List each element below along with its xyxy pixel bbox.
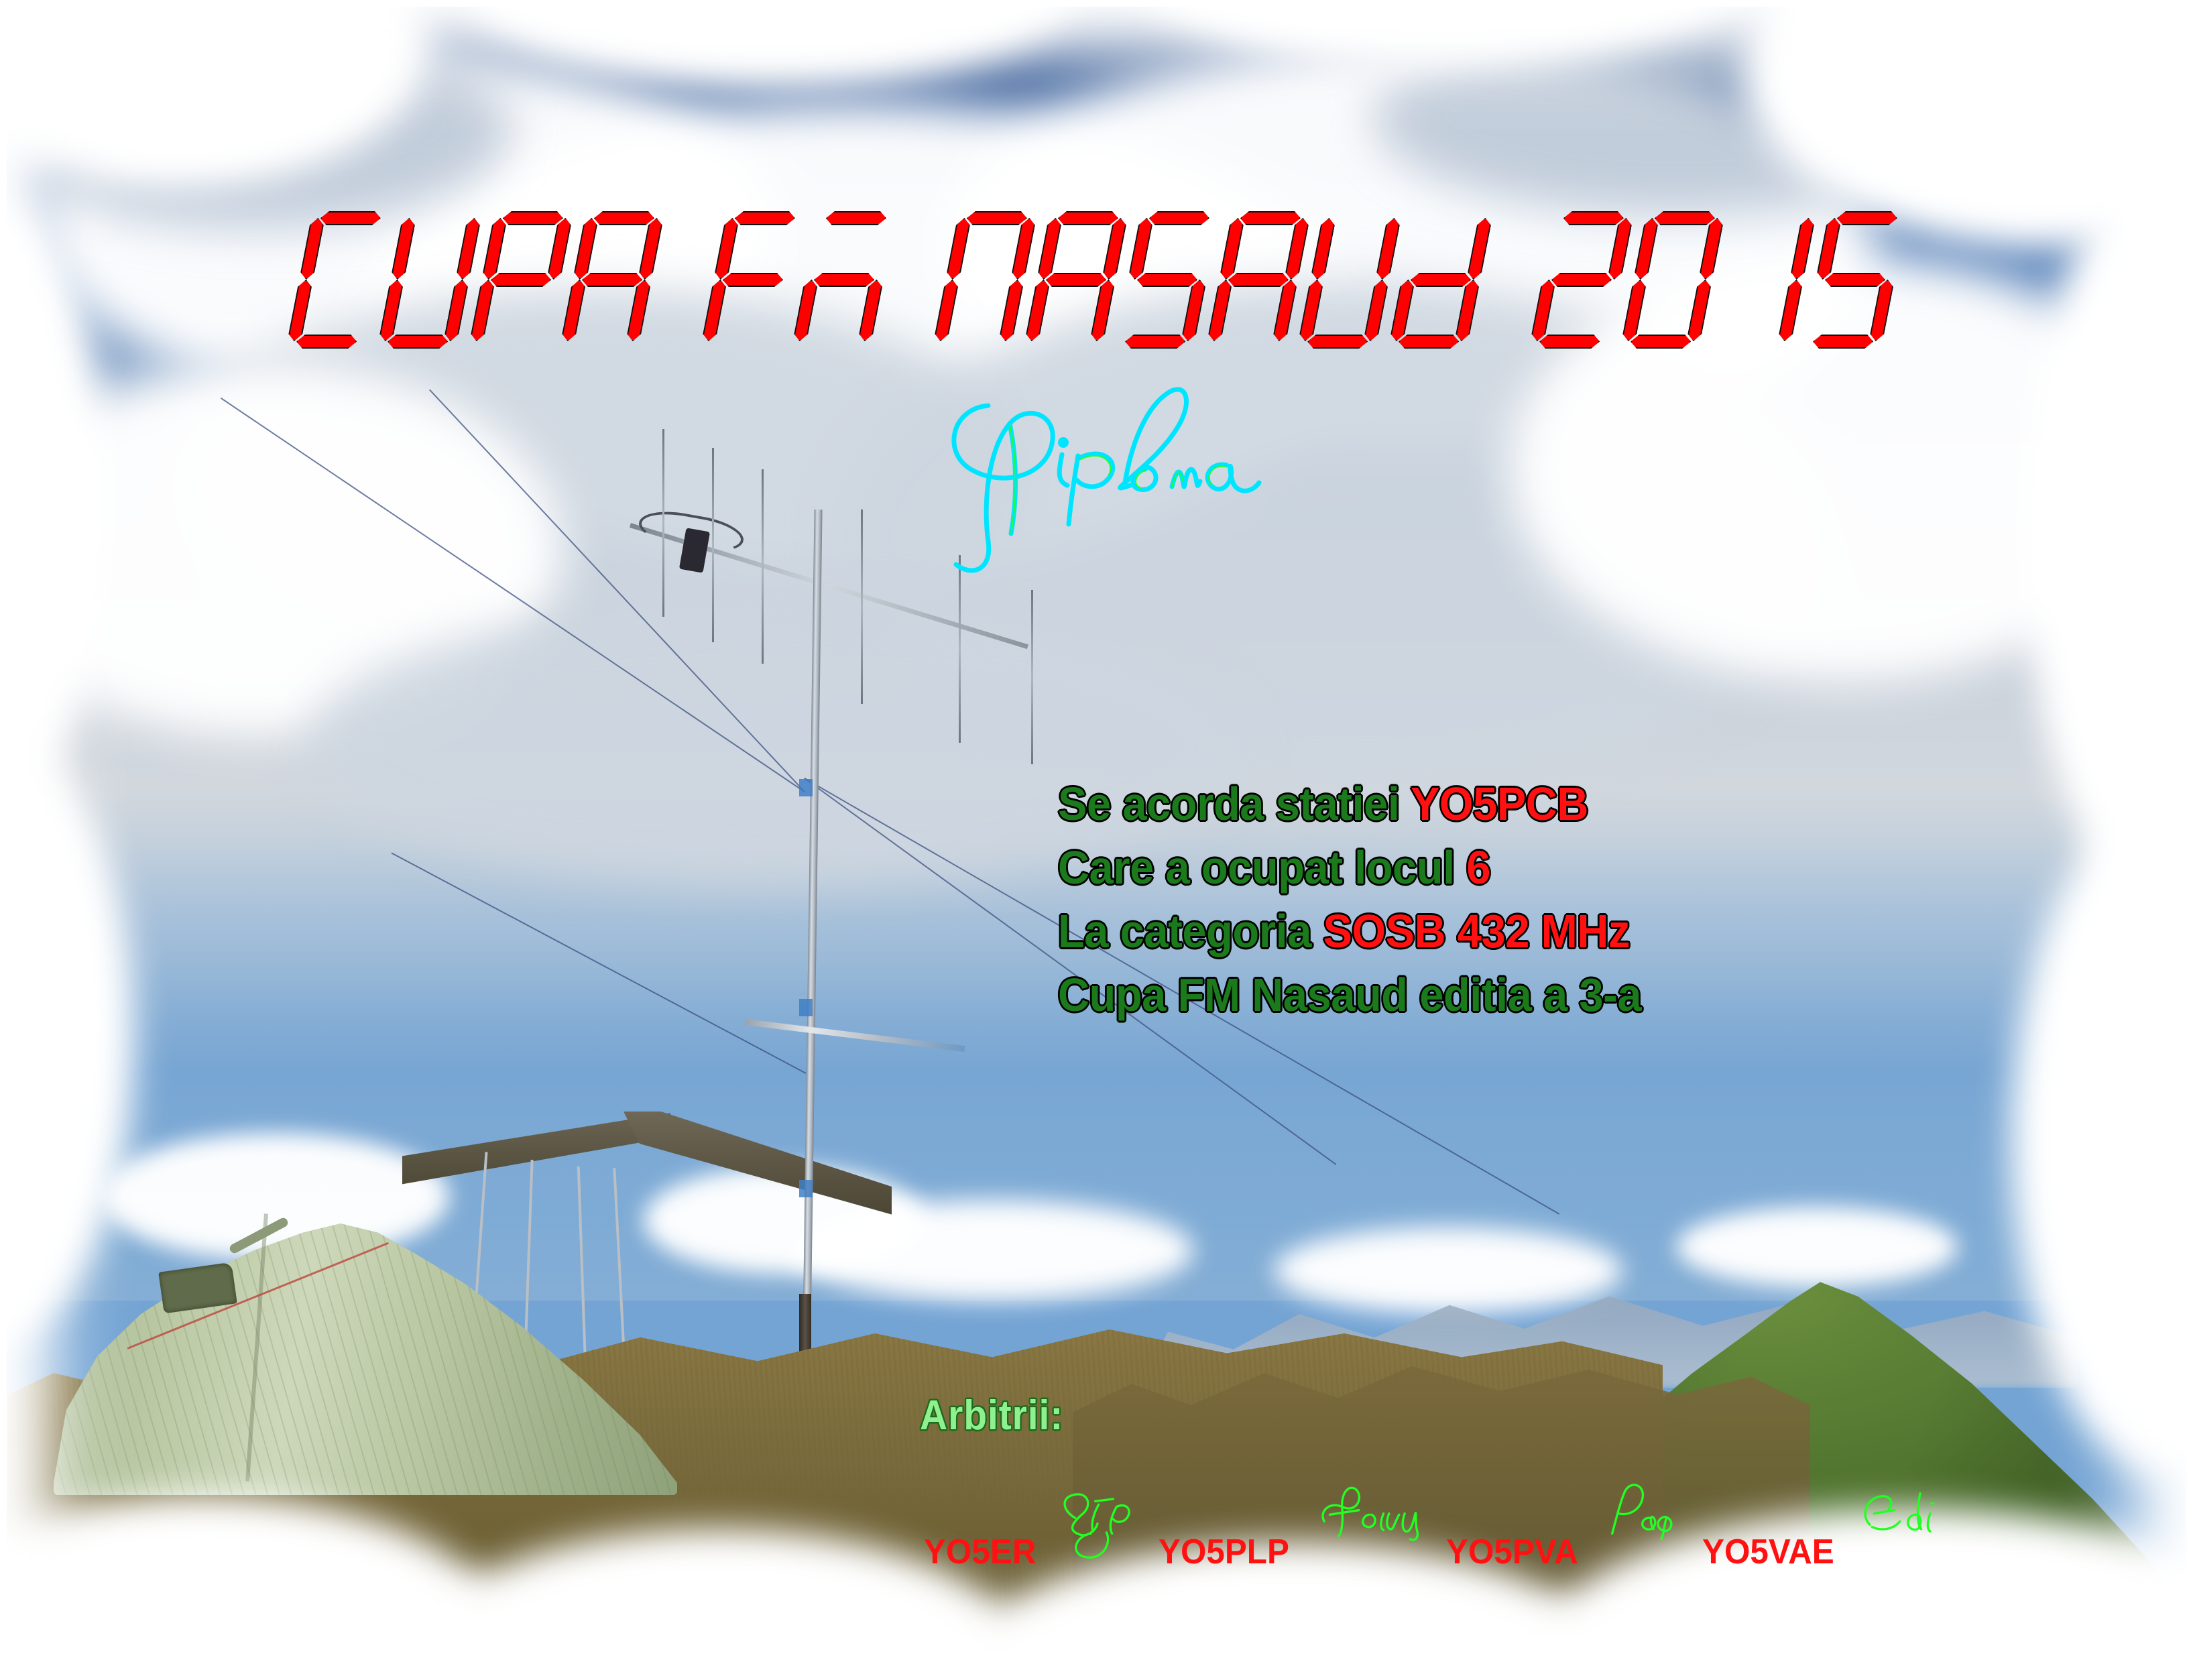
judge-signature [1591, 1465, 1692, 1566]
lcd-char [1711, 211, 1817, 349]
judges-label: Arbitrii: [920, 1392, 1063, 1439]
lcd-segment-b [1284, 218, 1310, 280]
lcd-segment-a [965, 211, 1028, 225]
judge-callsign: YO5PLP [1159, 1532, 1289, 1572]
award-line-1-value: YO5PCB [1411, 778, 1588, 830]
lcd-segment-d [1397, 335, 1460, 349]
lcd-segment-g [580, 273, 643, 287]
lcd-segment-c [443, 280, 469, 341]
award-line-1: Se acorda statiei YO5PCB [1058, 778, 2068, 831]
lcd-segment-a [733, 211, 796, 225]
lcd-segment-c [1181, 280, 1207, 341]
lcd-segment-f [1219, 218, 1245, 280]
lcd-segment-g [812, 273, 875, 287]
lcd-char [1114, 211, 1220, 349]
lcd-segment-b [1102, 218, 1128, 280]
lcd-segment-b [546, 218, 573, 280]
award-line-2: Care a ocupat locul 6 [1058, 841, 2068, 894]
lcd-char [882, 211, 947, 349]
headline-lcd [0, 211, 2193, 349]
lcd-segment-b [1789, 218, 1816, 280]
award-line-4: Cupa FM Nasaud editia a 3-a [1058, 969, 2068, 1022]
lcd-segment-b [1010, 218, 1036, 280]
judge-signature [1846, 1465, 1947, 1566]
lcd-segment-b [1698, 218, 1724, 280]
lcd-char [1620, 211, 1726, 349]
lcd-segment-e [1298, 280, 1324, 341]
lcd-char [286, 211, 392, 349]
diploma-script-svg [909, 375, 1285, 577]
lcd-segment-g [1409, 273, 1472, 287]
award-line-3-label: La categoria [1058, 905, 1323, 957]
lcd-segment-a [824, 211, 887, 225]
lcd-segment-g [1135, 273, 1198, 287]
lcd-segment-e [792, 280, 819, 341]
award-line-3: La categoria SOSB 432 MHz [1058, 905, 2068, 958]
lcd-char [1205, 211, 1311, 349]
lcd-segment-e [1207, 280, 1233, 341]
lcd-segment-d [1812, 335, 1875, 349]
award-line-4-label: Cupa FM Nasaud editia a 3-a [1058, 969, 1641, 1021]
lcd-char [650, 211, 715, 349]
lcd-segment-f [1310, 218, 1336, 280]
lcd-segment-g [1044, 273, 1107, 287]
lcd-segment-d [295, 335, 358, 349]
lcd-char [1023, 211, 1129, 349]
lcd-segment-e [287, 280, 313, 341]
lcd-segment-g [489, 273, 552, 287]
lcd-char [1297, 211, 1403, 349]
award-line-1-label: Se acorda statiei [1058, 778, 1411, 830]
lcd-segment-c [626, 280, 652, 341]
lcd-char [1802, 211, 1908, 349]
lcd-segment-f [945, 218, 971, 280]
lcd-segment-b [455, 218, 481, 280]
lcd-char [377, 211, 483, 349]
lcd-char [1529, 211, 1635, 349]
lcd-segment-b [1375, 218, 1401, 280]
lcd-segment-a [1147, 211, 1210, 225]
judge-callsign: YO5ER [924, 1532, 1036, 1572]
lcd-segment-d [1538, 335, 1601, 349]
lcd-segment-e [378, 280, 404, 341]
lcd-segment-g [1823, 273, 1886, 287]
lcd-segment-d [386, 335, 449, 349]
lcd-segment-e [1024, 280, 1051, 341]
lcd-segment-d [1124, 335, 1187, 349]
lcd-segment-a [318, 211, 381, 225]
lcd-segment-e [933, 280, 959, 341]
lcd-segment-c [1777, 280, 1803, 341]
judges-row: YO5ERYO5PLPYO5PVAYO5VAE [924, 1463, 1958, 1572]
lcd-segment-e [1389, 280, 1415, 341]
lcd-segment-a [1056, 211, 1119, 225]
lcd-segment-g [721, 273, 784, 287]
lcd-segment-f [1816, 218, 1842, 280]
certificate-canvas: Se acorda statiei YO5PCB Care a ocupat l… [0, 0, 2193, 1680]
lcd-char [1388, 211, 1494, 349]
lcd-char [1479, 211, 1543, 349]
lcd-segment-e [469, 280, 495, 341]
lcd-segment-b [1466, 218, 1492, 280]
lcd-segment-e [701, 280, 727, 341]
judge-signature [1047, 1465, 1148, 1566]
lcd-segment-a [1561, 211, 1624, 225]
award-body: Se acorda statiei YO5PCB Care a ocupat l… [1058, 778, 2144, 1032]
lcd-segment-c [1363, 280, 1389, 341]
lcd-char [700, 211, 806, 349]
lcd-segment-a [1653, 211, 1716, 225]
lcd-segment-e [560, 280, 587, 341]
lcd-segment-c [1686, 280, 1712, 341]
lcd-segment-f [713, 218, 739, 280]
lcd-segment-b [638, 218, 664, 280]
lcd-segment-c [1454, 280, 1480, 341]
lcd-segment-f [1036, 218, 1063, 280]
lcd-char [559, 211, 665, 349]
lcd-segment-f [299, 218, 325, 280]
award-line-2-value: 6 [1466, 841, 1490, 894]
lcd-segment-g [1549, 273, 1612, 287]
lcd-segment-e [1530, 280, 1556, 341]
lcd-segment-c [1272, 280, 1298, 341]
lcd-segment-f [1633, 218, 1659, 280]
lcd-segment-b [1607, 218, 1633, 280]
lcd-char [932, 211, 1038, 349]
judge-callsign: YO5VAE [1702, 1532, 1834, 1572]
lcd-segment-a [501, 211, 564, 225]
lcd-segment-c [1869, 280, 1895, 341]
lcd-segment-d [1629, 335, 1692, 349]
lcd-segment-d [1306, 335, 1369, 349]
text-overlay: Se acorda statiei YO5PCB Care a ocupat l… [0, 0, 2193, 1680]
judge-signature [1301, 1465, 1435, 1566]
lcd-segment-g [1226, 273, 1289, 287]
lcd-segment-f [390, 218, 416, 280]
lcd-segment-f [573, 218, 599, 280]
lcd-segment-a [1238, 211, 1301, 225]
lcd-segment-c [857, 280, 884, 341]
lcd-segment-c [998, 280, 1024, 341]
award-line-3-value: SOSB 432 MHz [1323, 905, 1631, 957]
lcd-segment-a [592, 211, 655, 225]
lcd-segment-a [1835, 211, 1898, 225]
lcd-segment-e [1621, 280, 1647, 341]
award-line-2-label: Care a ocupat locul [1058, 841, 1466, 894]
lcd-segment-f [481, 218, 508, 280]
lcd-char [791, 211, 897, 349]
lcd-char [468, 211, 574, 349]
diploma-script [0, 375, 2193, 580]
lcd-segment-c [1089, 280, 1116, 341]
lcd-segment-f [1128, 218, 1154, 280]
judge-callsign: YO5PVA [1446, 1532, 1578, 1572]
